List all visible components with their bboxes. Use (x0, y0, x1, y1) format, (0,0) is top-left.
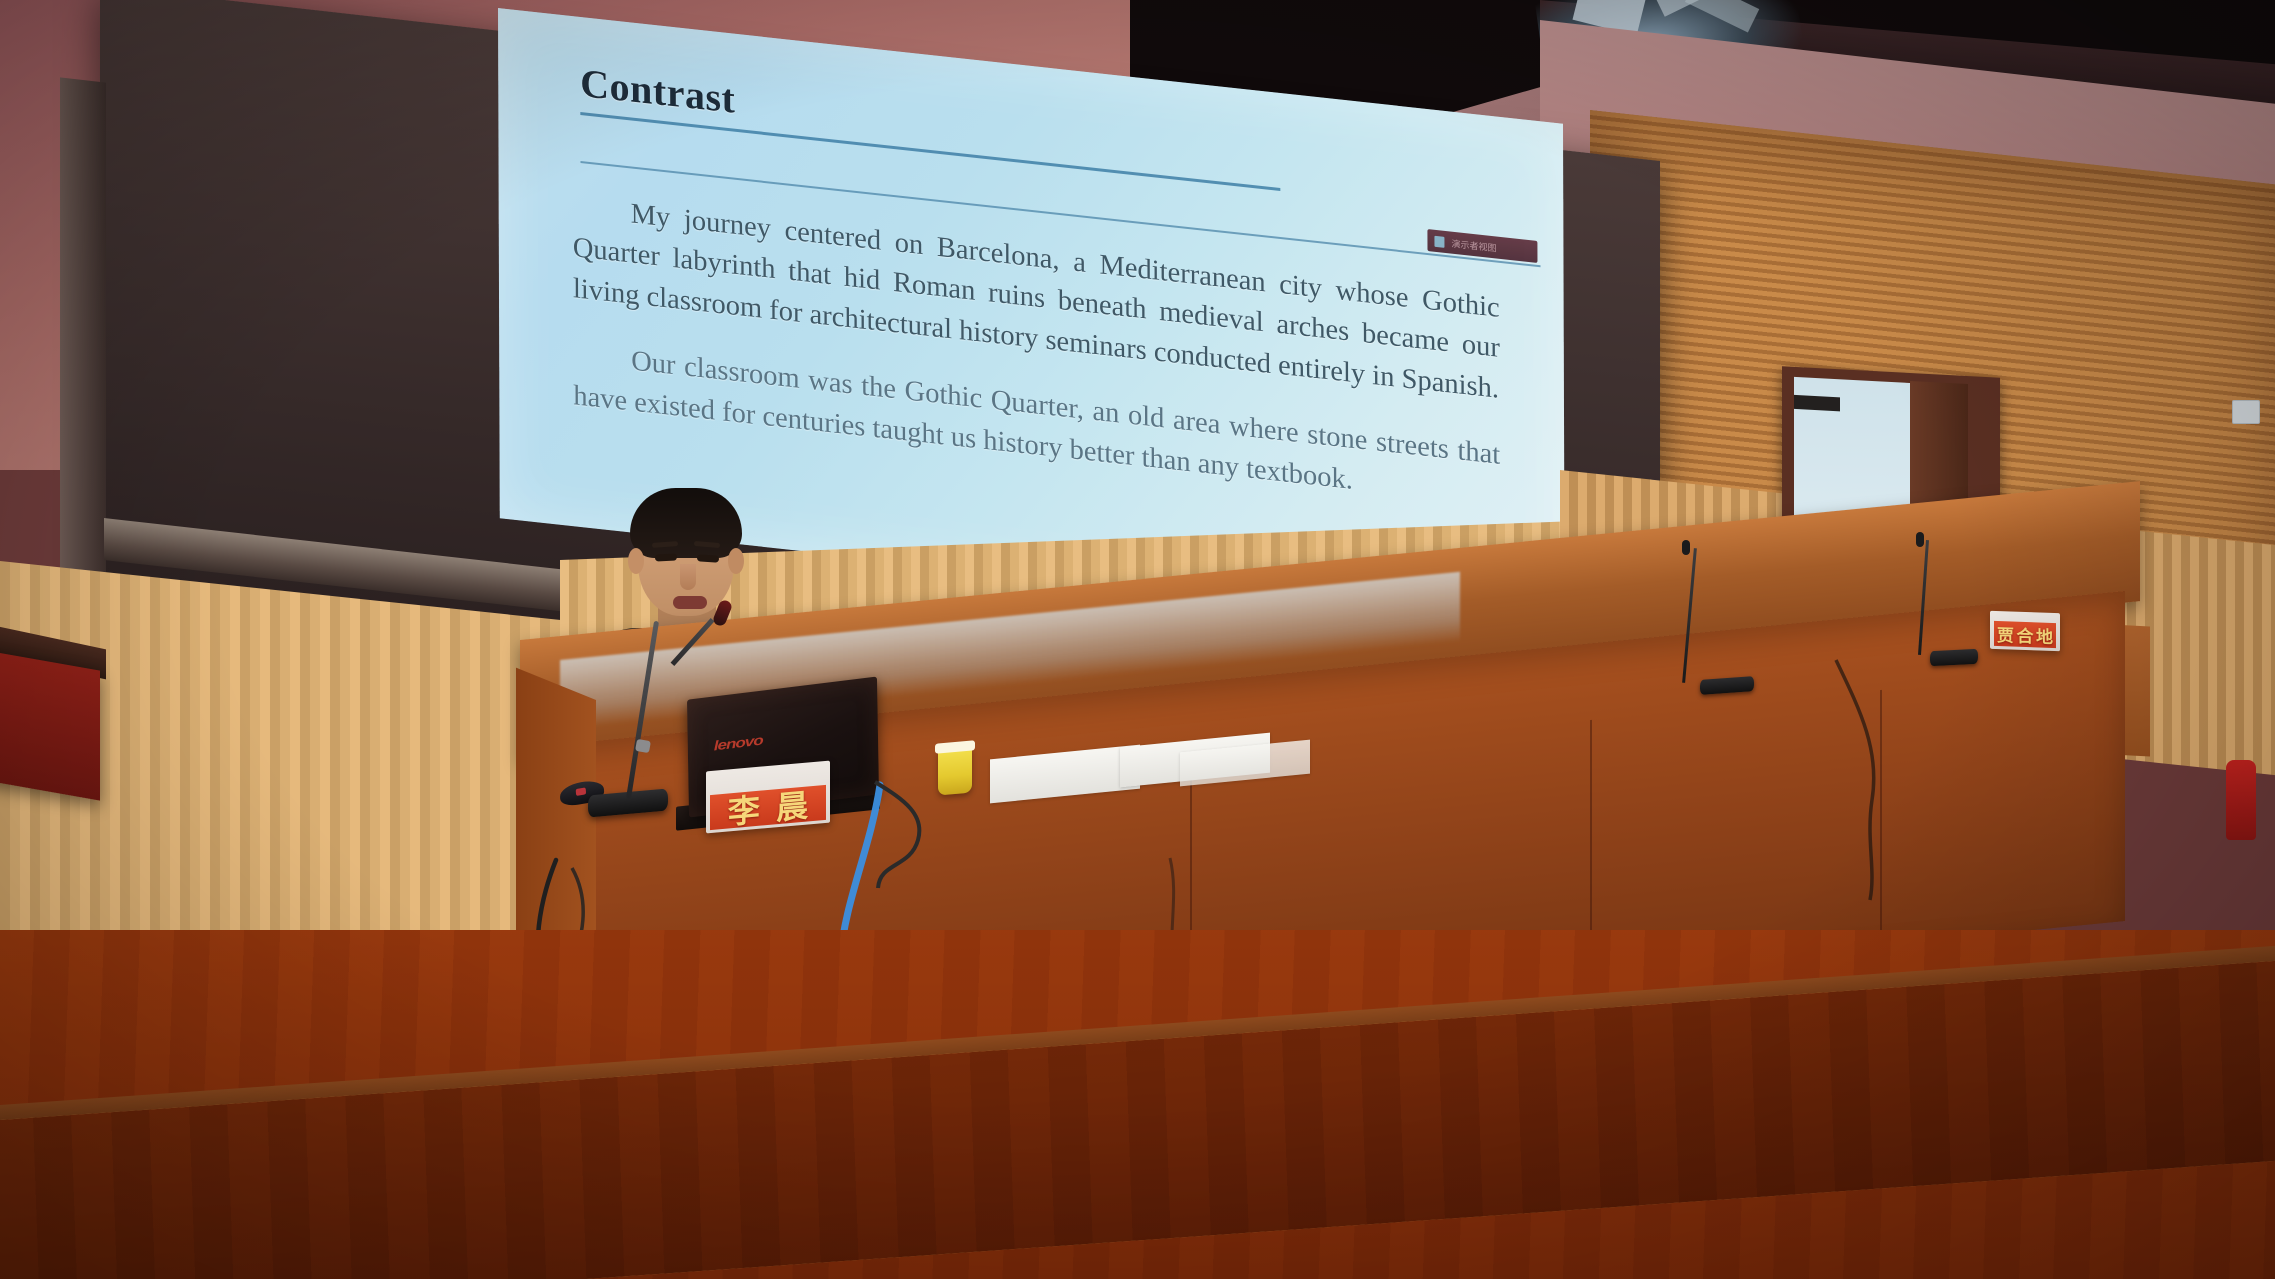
nameplate-char-2: 晨 (776, 781, 808, 830)
presenter-eye-right (697, 554, 719, 563)
podium (0, 649, 100, 800)
table-panel-seam (1880, 690, 1882, 960)
nameplate-char-1: 李 (728, 785, 760, 833)
microphone-clip (635, 739, 651, 753)
fire-extinguisher (2226, 760, 2256, 840)
nameplate-presenter: 李 晨 (706, 761, 830, 834)
nameplate-secondary: 贾 合 地 (1990, 611, 2060, 651)
nameplate-char-1: 贾 (1997, 621, 2014, 647)
screen-left-post (60, 77, 106, 582)
nameplate-face: 贾 合 地 (1994, 621, 2056, 648)
presenter-eye-left (655, 553, 677, 561)
presenter-mouth (673, 596, 707, 609)
lecture-hall-photo: Contrast My journey centered on Barcelon… (0, 0, 2275, 1279)
presenter-nose (680, 564, 696, 590)
presenter-ear-left (628, 548, 644, 574)
presenter-view-icon (1434, 235, 1444, 247)
laptop-brand-logo: lenovo (714, 733, 763, 755)
presenter-ear-right (728, 548, 744, 574)
mouse-logo (576, 787, 586, 796)
wall-socket-plate (2232, 400, 2260, 424)
paper-cup (938, 747, 972, 796)
nameplate-char-3: 地 (2036, 622, 2053, 648)
cup-lid (935, 740, 975, 753)
nameplate-char-2: 合 (2017, 622, 2034, 648)
presenter-toolbar-label: 演示者视图 (1451, 236, 1496, 254)
door-transom (1794, 395, 1840, 411)
nameplate-face: 李 晨 (710, 784, 826, 830)
presenter-hair (630, 488, 742, 558)
